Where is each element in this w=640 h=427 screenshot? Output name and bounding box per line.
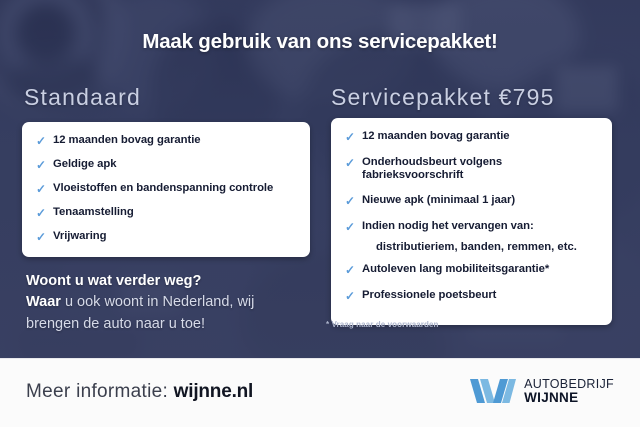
list-item: ✓ Vrijwaring — [36, 230, 296, 245]
list-item-label: Professionele poetsbeurt — [362, 289, 496, 302]
list-item-subline: distributieriem, banden, remmen, etc. — [376, 241, 598, 253]
wijnne-w-logo-icon — [470, 378, 516, 404]
more-info-prefix: Meer informatie: — [26, 381, 174, 402]
list-item: ✓ 12 maanden bovag garantie — [345, 130, 598, 145]
list-item-label: Indien nodig het vervangen van: — [362, 220, 534, 233]
check-icon: ✓ — [345, 289, 358, 304]
check-icon: ✓ — [36, 230, 49, 245]
column-title-standaard: Standaard — [24, 84, 141, 111]
list-item: ✓ Professionele poetsbeurt — [345, 289, 598, 304]
delivery-promo: Woont u wat verder weg? Waar u ook woont… — [26, 271, 326, 335]
promo-line-2: Waar u ook woont in Nederland, wij — [26, 292, 326, 313]
website-link[interactable]: wijnne.nl — [174, 381, 253, 402]
check-icon: ✓ — [345, 194, 358, 209]
promo-emphasis: Waar — [26, 294, 61, 310]
logo-line-2: WIJNNE — [524, 391, 614, 405]
check-icon: ✓ — [36, 134, 49, 149]
list-item: ✓ Nieuwe apk (minimaal 1 jaar) — [345, 194, 598, 209]
check-icon: ✓ — [345, 130, 358, 145]
check-icon: ✓ — [345, 263, 358, 278]
list-item: ✓ Geldige apk — [36, 158, 296, 173]
promo-line-2-rest: u ook woont in Nederland, wij — [61, 294, 254, 310]
list-item-label: Vrijwaring — [53, 230, 107, 243]
check-icon: ✓ — [36, 206, 49, 221]
check-icon: ✓ — [36, 158, 49, 173]
list-item: ✓ Indien nodig het vervangen van: — [345, 220, 598, 235]
list-item-label: 12 maanden bovag garantie — [53, 134, 201, 147]
list-item: ✓ Onderhoudsbeurt volgens fabrieksvoorsc… — [345, 156, 598, 183]
check-icon: ✓ — [36, 182, 49, 197]
column-title-servicepakket: Servicepakket €795 — [331, 84, 555, 111]
list-item-label: 12 maanden bovag garantie — [362, 130, 510, 143]
promo-line-3: brengen de auto naar u toe! — [26, 314, 326, 335]
list-item: ✓ 12 maanden bovag garantie — [36, 134, 296, 149]
list-item-label: Onderhoudsbeurt volgens fabrieksvoorschr… — [362, 156, 598, 183]
logo-line-1: AUTOBEDRIJF — [524, 378, 614, 391]
check-icon: ✓ — [345, 156, 358, 171]
list-item-label: Autoleven lang mobiliteitsgarantie* — [362, 263, 549, 276]
company-logo[interactable]: AUTOBEDRIJF WIJNNE — [470, 378, 614, 405]
list-item: ✓ Autoleven lang mobiliteitsgarantie* — [345, 263, 598, 278]
list-item-label: Vloeistoffen en bandenspanning controle — [53, 182, 273, 195]
advertisement-banner: Maak gebruik van ons servicepakket! Stan… — [0, 0, 640, 427]
list-item: ✓ Tenaamstelling — [36, 206, 296, 221]
more-info-text: Meer informatie: wijnne.nl — [26, 381, 253, 403]
list-item-label: Nieuwe apk (minimaal 1 jaar) — [362, 194, 515, 207]
servicepakket-feature-card: ✓ 12 maanden bovag garantie ✓ Onderhouds… — [331, 118, 612, 325]
list-item: ✓ Vloeistoffen en bandenspanning control… — [36, 182, 296, 197]
logo-wordmark: AUTOBEDRIJF WIJNNE — [524, 378, 614, 405]
check-icon: ✓ — [345, 220, 358, 235]
promo-line-1: Woont u wat verder weg? — [26, 271, 326, 292]
standaard-feature-card: ✓ 12 maanden bovag garantie ✓ Geldige ap… — [22, 122, 310, 257]
list-item-label: Tenaamstelling — [53, 206, 134, 219]
footer-bar: Meer informatie: wijnne.nl AUTOBEDRIJF W… — [0, 358, 640, 427]
page-title: Maak gebruik van ons servicepakket! — [0, 30, 640, 54]
list-item-label: Geldige apk — [53, 158, 117, 171]
terms-footnote: * Vraag naar de voorwaarden — [326, 320, 439, 329]
